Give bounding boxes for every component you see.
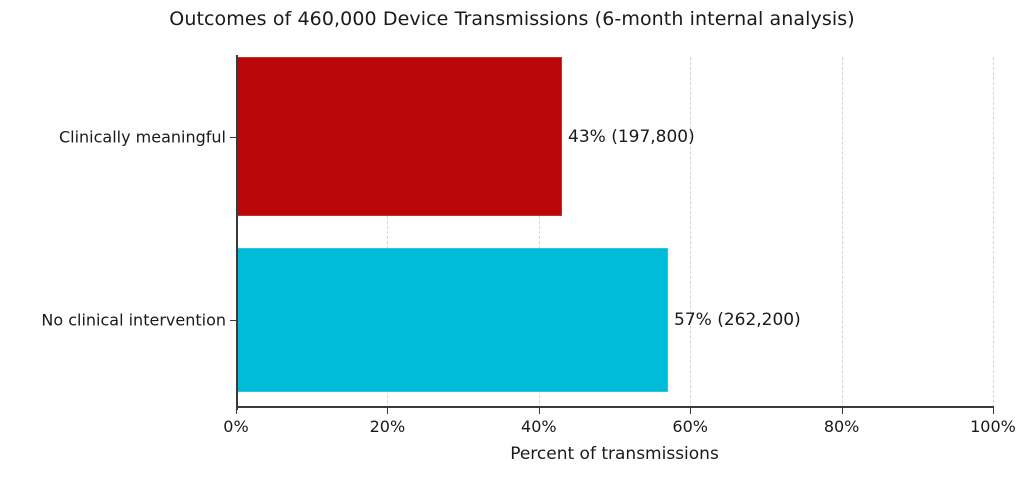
xtick-mark-60	[690, 408, 691, 414]
axis-spine-left	[236, 55, 238, 410]
xaxis-title: Percent of transmissions	[236, 444, 993, 464]
xtick-label-60: 60%	[672, 417, 708, 436]
bar-label-no-clinical-intervention: 57% (262,200)	[674, 310, 801, 330]
ytick-mark-no-clinical-intervention	[230, 320, 237, 321]
xtick-mark-0	[236, 408, 237, 414]
axis-spine-bottom	[236, 406, 994, 408]
bar-label-clinically-meaningful: 43% (197,800)	[568, 127, 695, 147]
ytick-label-no-clinical-intervention: No clinical intervention	[0, 311, 226, 330]
bar-no-clinical-intervention[interactable]	[236, 248, 668, 392]
xtick-label-0: 0%	[223, 417, 248, 436]
xtick-mark-40	[539, 408, 540, 414]
xtick-mark-80	[842, 408, 843, 414]
ytick-mark-clinically-meaningful	[230, 137, 237, 138]
xtick-mark-100	[993, 408, 994, 414]
ytick-label-clinically-meaningful: Clinically meaningful	[0, 128, 226, 147]
xtick-label-40: 40%	[521, 417, 557, 436]
xtick-label-20: 20%	[370, 417, 406, 436]
chart-title: Outcomes of 460,000 Device Transmissions…	[0, 8, 1024, 30]
gridline-100	[993, 57, 994, 408]
xtick-label-100: 100%	[970, 417, 1016, 436]
xtick-label-80: 80%	[824, 417, 860, 436]
bars-layer	[236, 57, 993, 408]
xtick-mark-20	[387, 408, 388, 414]
chart-figure: Outcomes of 460,000 Device Transmissions…	[0, 0, 1024, 478]
bar-clinically-meaningful[interactable]	[236, 57, 562, 216]
